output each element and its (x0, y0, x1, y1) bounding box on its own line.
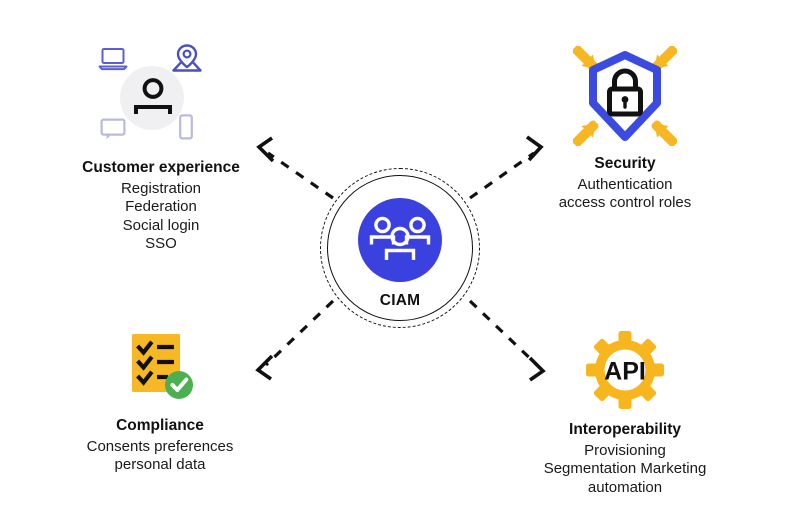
checklist-verified-icon (120, 330, 200, 406)
shield-padlock-icon (573, 46, 677, 146)
api-gear-label: API (604, 358, 646, 386)
node-title-interoperability: Interoperability (500, 420, 750, 440)
shield-outline (593, 55, 657, 137)
verified-badge-icon (165, 371, 193, 399)
node-interoperability[interactable]: API Interoperability Provisioning Segmen… (500, 330, 750, 497)
node-compliance[interactable]: Compliance Consents preferences personal… (40, 330, 280, 475)
chat-bubble-icon (100, 118, 126, 140)
group-of-people-icon (358, 198, 442, 282)
node-description-customer-experience: Registration Federation Social login SSO (36, 180, 286, 253)
center-label: CIAM (320, 292, 480, 310)
node-title-customer-experience: Customer experience (36, 158, 286, 178)
person-with-devices-icon (86, 44, 236, 148)
ciam-diagram: CIAM (0, 0, 800, 519)
center-node-ciam[interactable]: CIAM (320, 168, 482, 330)
person-icon (130, 76, 176, 120)
node-security[interactable]: Security Authentication access control r… (520, 46, 730, 213)
location-pin-icon (172, 44, 202, 72)
laptop-icon (98, 46, 128, 72)
mobile-phone-icon (178, 114, 194, 140)
node-title-security: Security (520, 154, 730, 174)
node-description-security: Authentication access control roles (520, 176, 730, 213)
node-description-compliance: Consents preferences personal data (40, 438, 280, 475)
node-description-interoperability: Provisioning Segmentation Marketing auto… (500, 442, 750, 497)
node-title-compliance: Compliance (40, 416, 280, 436)
api-gear-icon: API (584, 330, 666, 410)
node-customer-experience[interactable]: Customer experience Registration Federat… (36, 44, 286, 253)
